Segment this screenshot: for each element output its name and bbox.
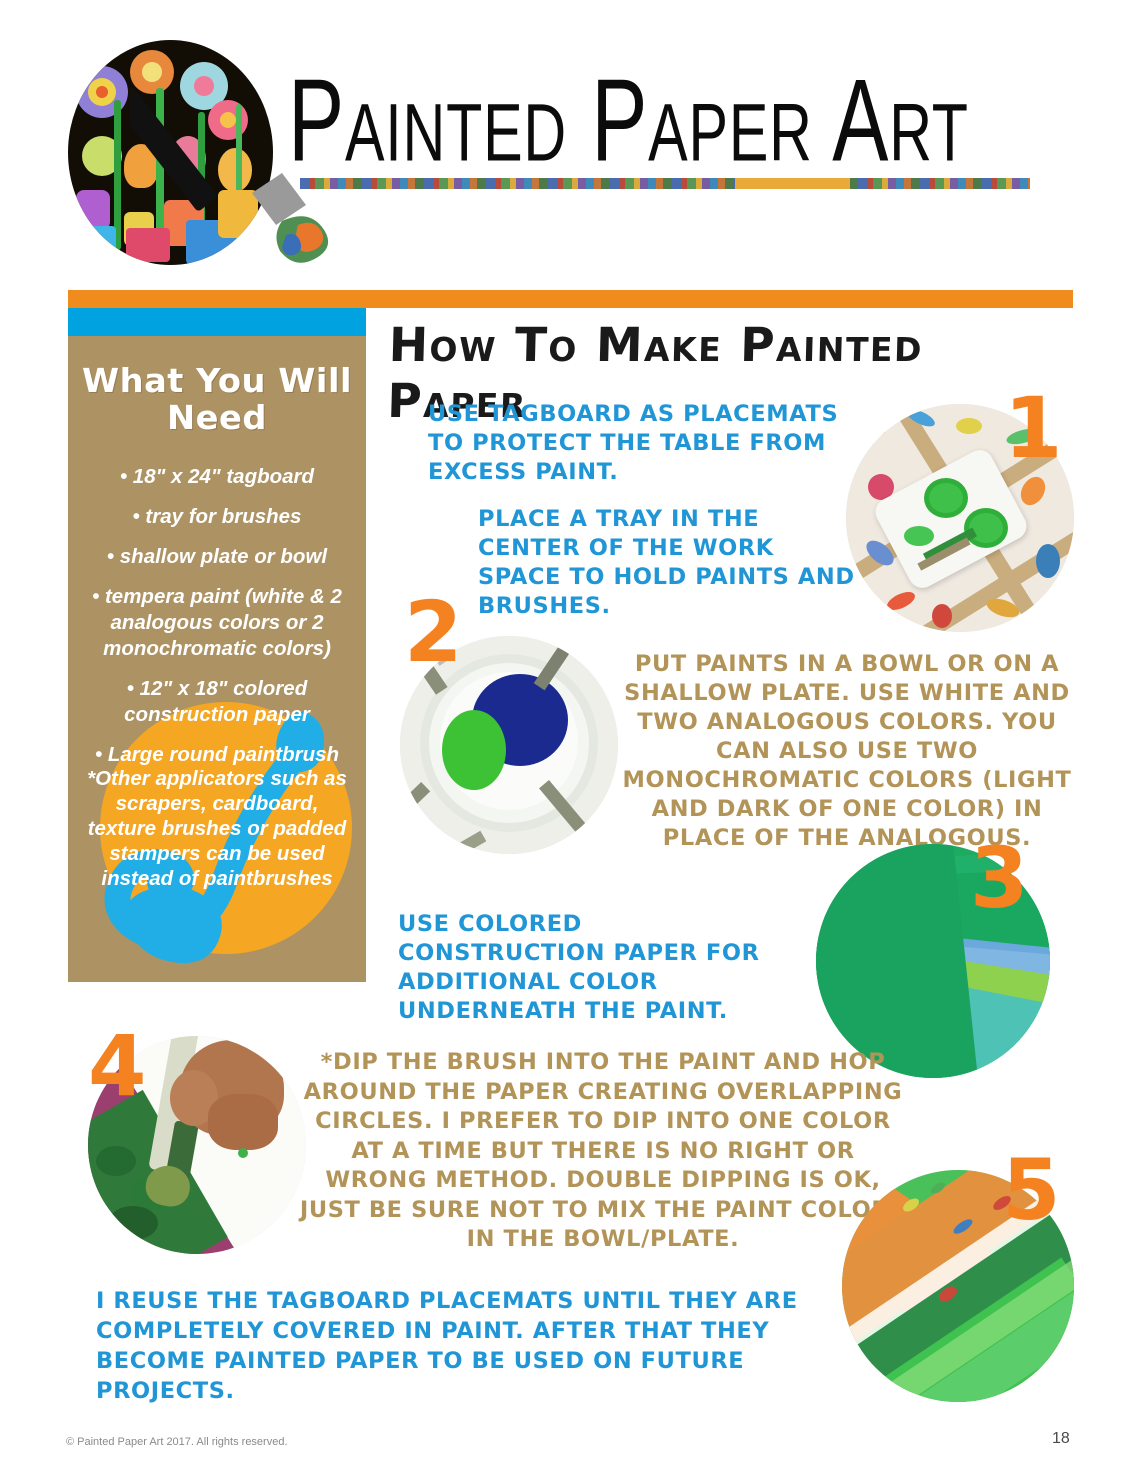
list-item: • Large round paintbrush — [80, 742, 354, 768]
wordmark-paint-rule — [300, 178, 1030, 189]
logo-artwork-badge — [68, 40, 273, 265]
step-1-paragraph-1: Use tagboard as placemats to protect the… — [428, 400, 848, 487]
step-3-number: 3 — [970, 836, 1028, 920]
materials-sidebar: What You Will Need • 18" x 24" tagboard … — [68, 336, 366, 982]
list-item: • 18" x 24" tagboard — [80, 464, 354, 490]
list-item: • 12" x 18" colored construction paper — [80, 676, 354, 728]
step-4-number: 4 — [88, 1024, 146, 1108]
footer-copyright: © Painted Paper Art 2017. All rights res… — [66, 1436, 288, 1448]
list-item: • tempera paint (white & 2 analogous col… — [80, 584, 354, 662]
step-1-number: 1 — [1004, 386, 1062, 470]
orange-divider-bar — [68, 290, 1073, 308]
materials-footnote: *Other applicators such as scrapers, car… — [80, 766, 354, 891]
list-item: • tray for brushes — [80, 504, 354, 530]
step-3-paragraph: Use colored construction paper for addit… — [398, 910, 778, 1026]
step-2-paragraph: Put paints in a bowl or on a shallow pla… — [612, 650, 1082, 853]
step-5-paragraph: I reuse the tagboard placemats until the… — [96, 1286, 836, 1406]
step-4-paragraph: *Dip the brush into the paint and hop ar… — [298, 1048, 908, 1255]
step-2-number: 2 — [404, 590, 462, 674]
footer-page-number: 18 — [1052, 1430, 1070, 1448]
list-item: • shallow plate or bowl — [80, 544, 354, 570]
blue-sidebar-cap-bar — [68, 308, 366, 336]
logo-art-canvas — [68, 40, 273, 265]
step-5-number: 5 — [1002, 1148, 1060, 1232]
step-1-paragraph-2: Place a tray in the center of the work s… — [478, 505, 858, 621]
sidebar-heading: What You Will Need — [68, 362, 366, 436]
materials-list: • 18" x 24" tagboard • tray for brushes … — [80, 464, 354, 782]
page-header: Painted Paper Art — [0, 0, 1140, 285]
